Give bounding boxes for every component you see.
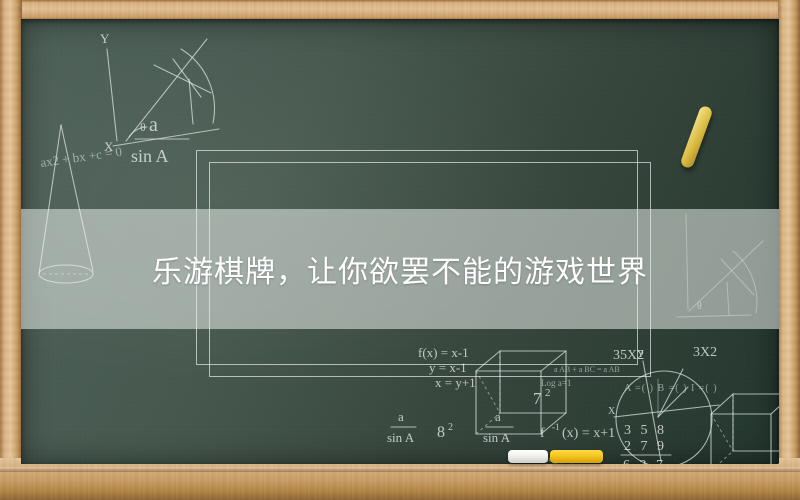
title-band: 乐游棋牌，让你欲罢不能的游戏世界 [21,209,779,329]
frame-top-rail [0,0,800,20]
frame-left-rail [0,0,22,500]
tray-chalk-yellow [550,450,603,463]
chalkboard-surface: a sin A ax2 + bx +c = 0 Y X [21,19,779,464]
frame-bottom-rail-tray [0,458,800,500]
page-title: 乐游棋牌，让你欲罢不能的游戏世界 [152,247,648,291]
chalk-tray-lip [0,467,800,472]
chalkboard-banner: a sin A ax2 + bx +c = 0 Y X [0,0,800,500]
frame-right-rail [778,0,800,500]
tray-chalk-white [508,450,548,463]
